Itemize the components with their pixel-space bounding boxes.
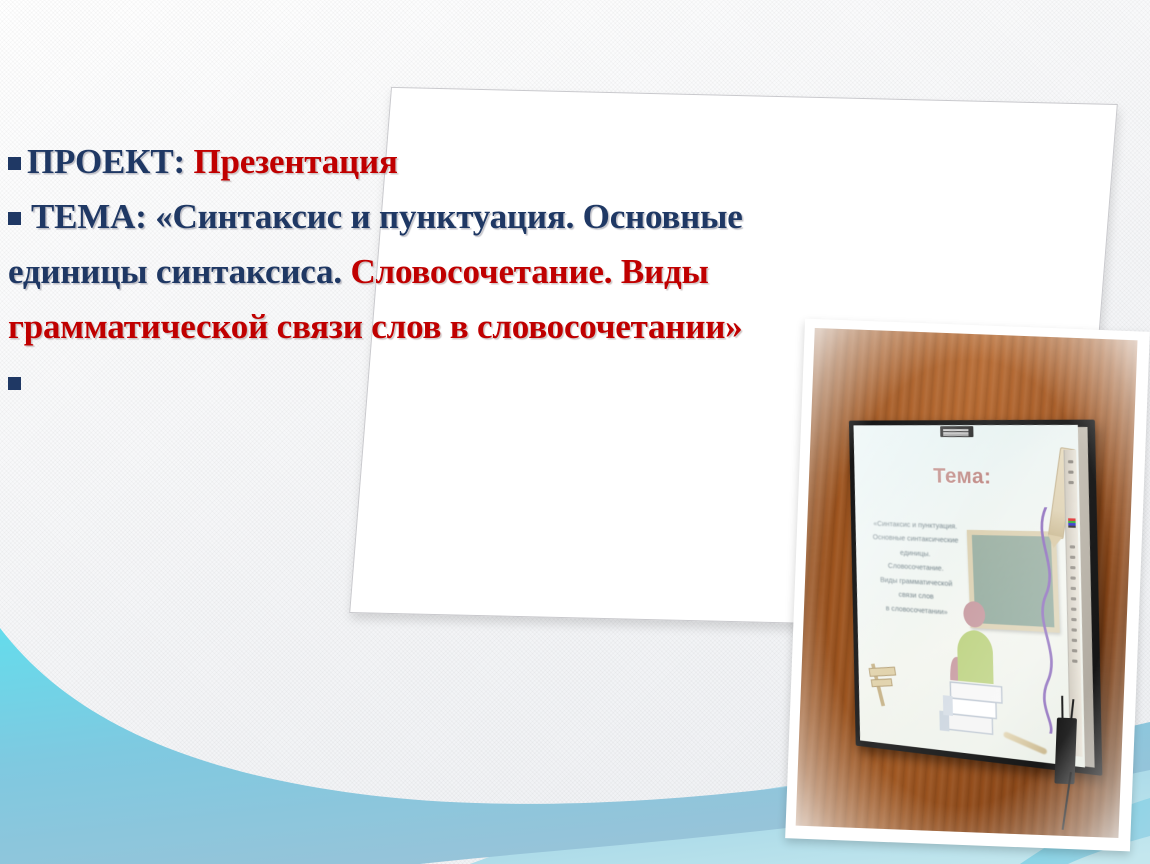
bullet-line-empty bbox=[8, 354, 1068, 409]
speaker-device bbox=[1054, 718, 1077, 785]
board-brand-logo bbox=[940, 426, 973, 437]
square-bullet-icon bbox=[8, 377, 21, 390]
square-bullet-icon bbox=[8, 157, 21, 170]
theme-text-red: Словосочетание. Виды bbox=[350, 252, 708, 291]
board-slide-title: Тема: bbox=[854, 464, 1079, 492]
theme-line2: единицы синтаксиса. Словосочетание. Виды bbox=[8, 244, 1068, 299]
theme-text-navy: единицы синтаксиса. bbox=[8, 252, 350, 291]
presentation-slide: Тема: «Синтаксис и пунктуация. Основные … bbox=[0, 0, 1150, 864]
bullet-line-theme: ТЕМА: «Синтаксис и пунктуация. Основные bbox=[8, 189, 1068, 244]
board-screen: Тема: «Синтаксис и пунктуация. Основные … bbox=[854, 425, 1085, 768]
square-bullet-icon bbox=[8, 212, 21, 225]
board-color-palette bbox=[1068, 518, 1076, 528]
project-value: Презентация bbox=[194, 142, 398, 181]
theme-label-line1: ТЕМА: «Синтаксис и пунктуация. Основные bbox=[31, 197, 743, 236]
theme-line3: грамматической связи слов в словосочетан… bbox=[8, 299, 1068, 354]
project-label: ПРОЕКТ: bbox=[27, 142, 194, 181]
signpost-clipart bbox=[867, 657, 905, 709]
theme-text-red-2: грамматической связи слов в словосочетан… bbox=[8, 307, 742, 346]
slide-text-block: ПРОЕКТ: Презентация ТЕМА: «Синтаксис и п… bbox=[8, 134, 1068, 409]
bullet-line-project: ПРОЕКТ: Презентация bbox=[8, 134, 1068, 189]
